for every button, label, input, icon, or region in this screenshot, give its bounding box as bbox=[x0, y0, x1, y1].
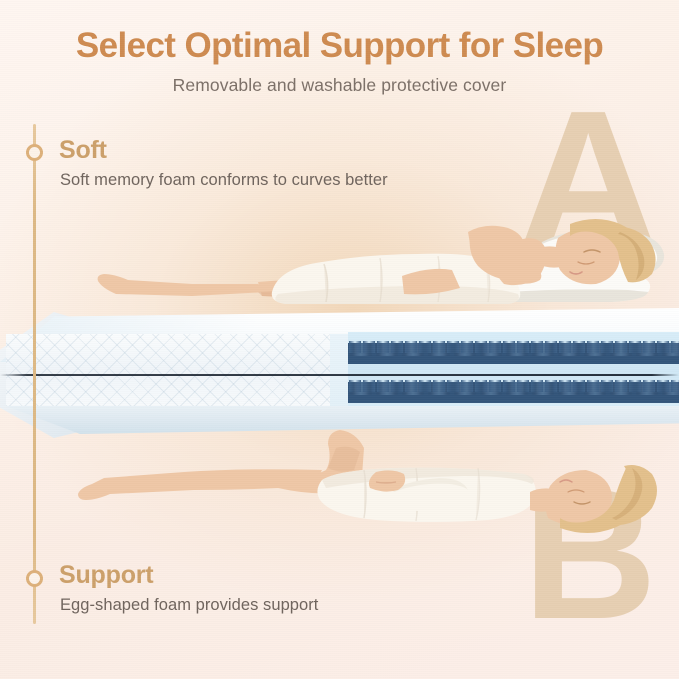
egg-crate-peaks-a bbox=[348, 341, 679, 353]
feature-support-title: Support bbox=[59, 561, 318, 590]
feature-soft: Soft Soft memory foam conforms to curves… bbox=[59, 136, 388, 190]
page-subtitle: Removable and washable protective cover bbox=[0, 75, 679, 96]
sleeper-figure-side-a bbox=[72, 196, 672, 318]
foam-core-cutaway bbox=[348, 332, 679, 410]
header: Select Optimal Support for Sleep Removab… bbox=[0, 0, 679, 96]
feature-timeline-rail bbox=[33, 124, 36, 624]
feature-support-description: Egg-shaped foam provides support bbox=[60, 596, 318, 615]
feature-soft-description: Soft memory foam conforms to curves bett… bbox=[60, 171, 388, 190]
feature-soft-title: Soft bbox=[59, 136, 388, 165]
ring-marker-soft bbox=[26, 144, 43, 161]
mattress-split-line bbox=[0, 374, 679, 376]
sleeper-figure-side-b bbox=[64, 428, 664, 540]
ring-marker-support bbox=[26, 570, 43, 587]
page-title: Select Optimal Support for Sleep bbox=[0, 26, 679, 66]
feature-support: Support Egg-shaped foam provides support bbox=[59, 561, 318, 615]
egg-crate-peaks-b bbox=[348, 380, 679, 392]
product-infographic: A B bbox=[0, 0, 679, 679]
